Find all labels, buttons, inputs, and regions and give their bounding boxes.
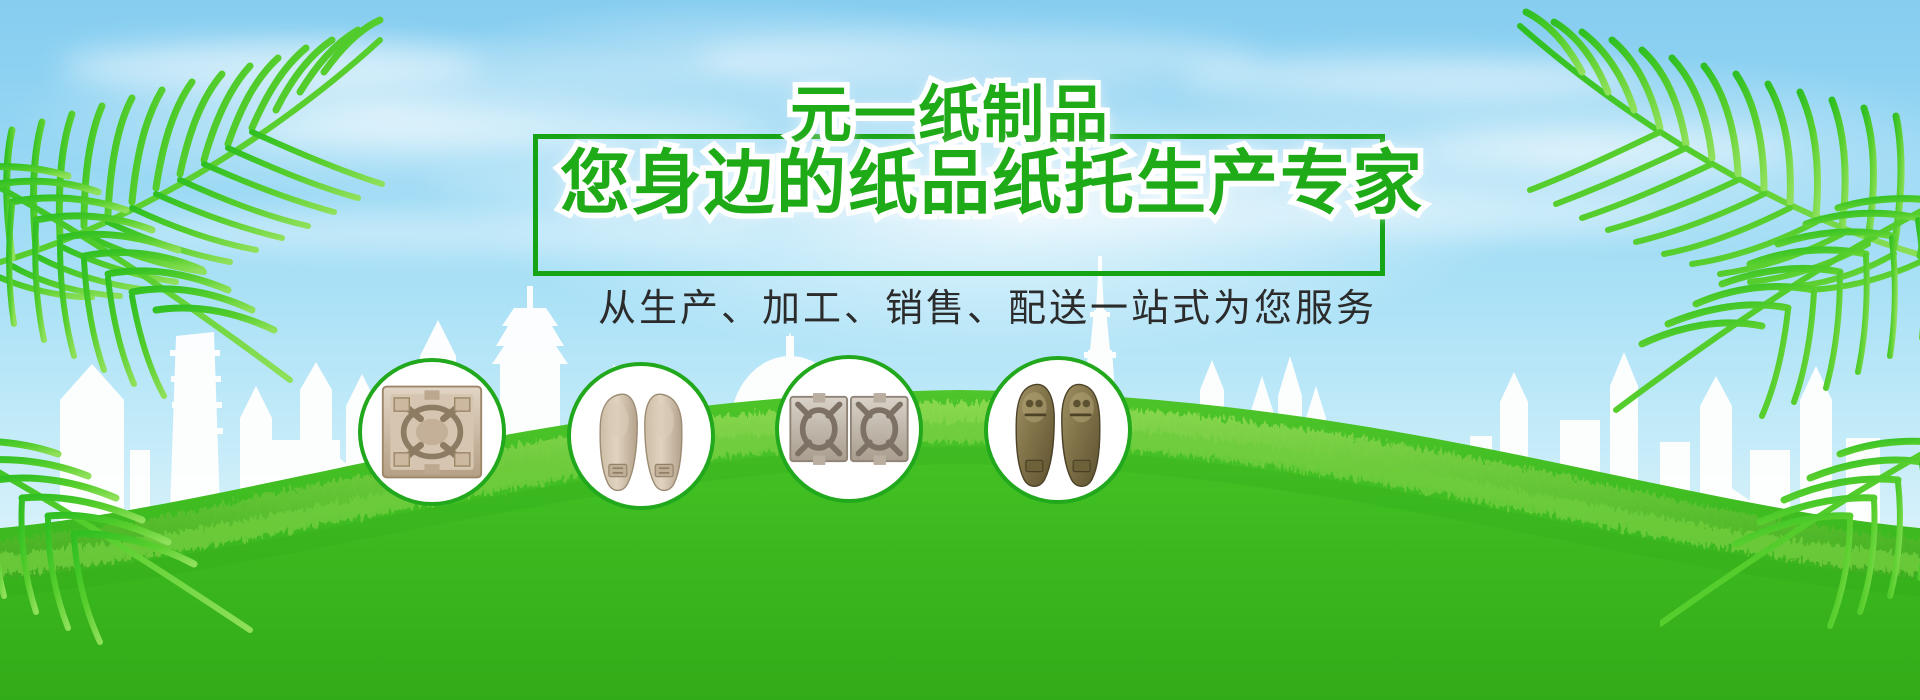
paper-pulp-shoe-tree-pair-icon [571,366,711,506]
product-circle-paper-pulp-shoe-tree-pair[interactable] [567,362,715,510]
paper-pulp-corner-protectors-icon [779,359,919,499]
promo-banner: 元一纸制品 您身边的纸品纸托生产专家 从生产、加工、销售、配送一站式为您服务 [0,0,1920,700]
product-circle-paper-pulp-corner-protectors[interactable] [775,355,923,503]
product-circle-paper-pulp-dark-shoe-tree-pair[interactable] [984,356,1132,504]
product-circle-paper-pulp-square-tray[interactable] [358,358,506,506]
banner-subtitle: 从生产、加工、销售、配送一站式为您服务 [598,286,1377,330]
paper-pulp-square-tray-icon [362,362,502,502]
paper-pulp-dark-shoe-tree-pair-icon [988,360,1128,500]
banner-title-primary: 元一纸制品 [790,84,1110,146]
headline-area: 元一纸制品 您身边的纸品纸托生产专家 [0,0,1920,420]
banner-title-secondary: 您身边的纸品纸托生产专家 [560,148,1424,218]
